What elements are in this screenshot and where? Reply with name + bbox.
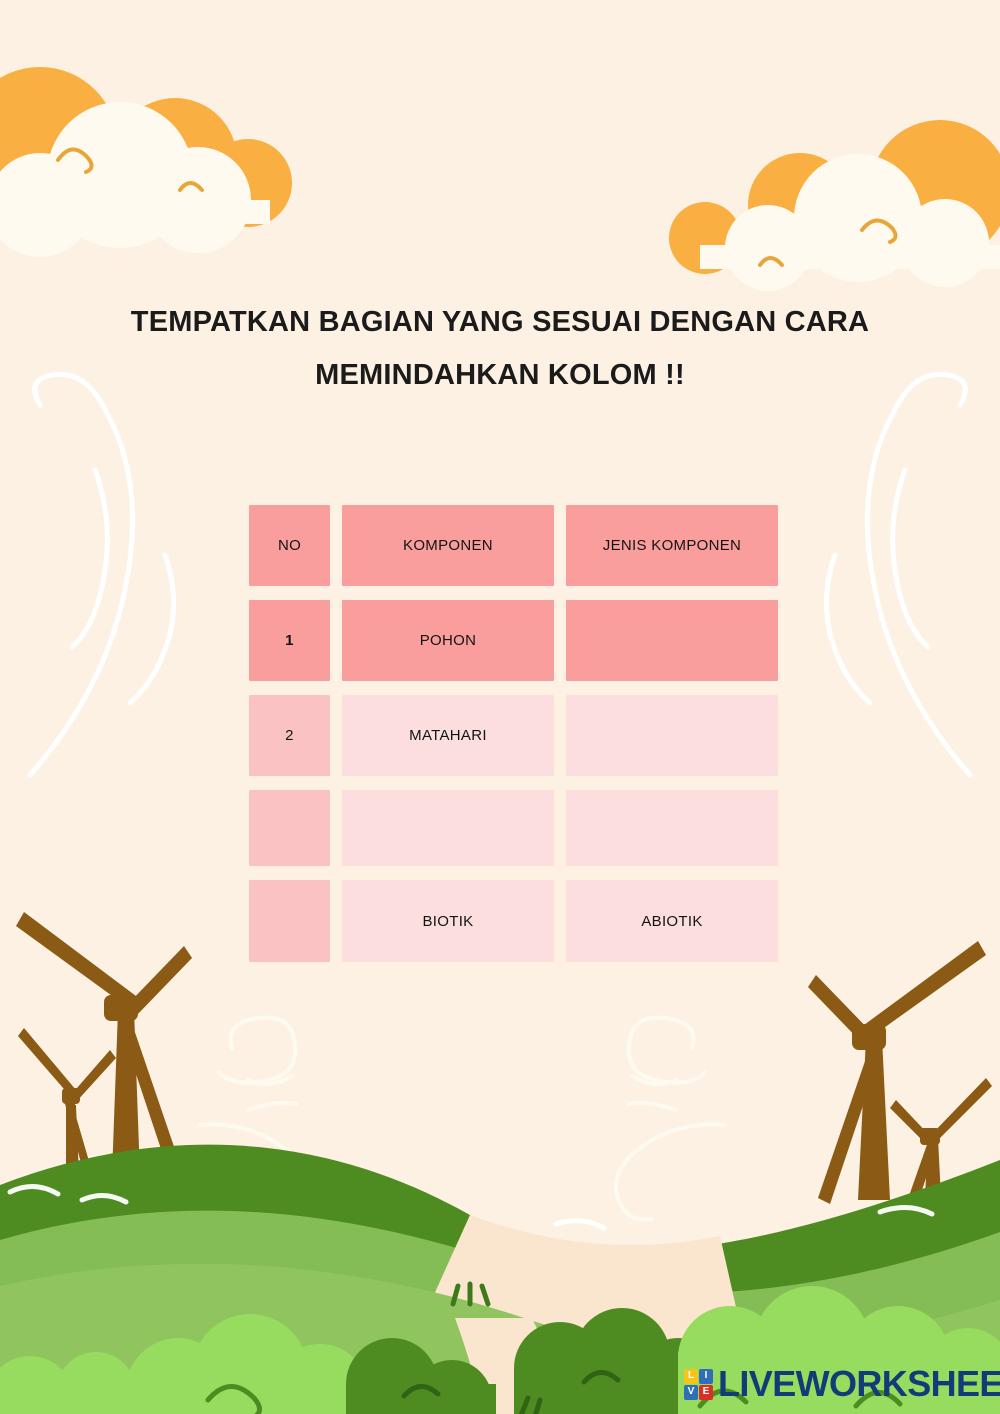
bush-far-left	[0, 1352, 136, 1414]
title-line-2: MEMINDAHKAN KOLOM !!	[0, 349, 1000, 402]
row-1-jenis[interactable]	[566, 600, 778, 681]
cloud-top-left	[0, 67, 292, 257]
logo-tile-l: L	[684, 1369, 698, 1384]
table-header-komponen: KOMPONEN	[342, 505, 554, 586]
cloud-top-right	[669, 120, 1000, 291]
logo-tile-i: I	[699, 1369, 713, 1384]
logo-tile-v: V	[684, 1385, 698, 1400]
row-3-jenis[interactable]	[566, 790, 778, 866]
wind-turbine-right-large	[808, 941, 986, 1204]
bush-center-dark	[346, 1338, 496, 1414]
table-row: 1 POHON	[249, 600, 778, 681]
row-1-komponen[interactable]: POHON	[342, 600, 554, 681]
page-title: TEMPATKAN BAGIAN YANG SESUAI DENGAN CARA…	[0, 296, 1000, 402]
grass-accents	[10, 1186, 932, 1228]
table-header-jenis: JENIS KOMPONEN	[566, 505, 778, 586]
wind-swirl-left	[30, 374, 174, 775]
liveworksheets-logo-text: LIVEWORKSHEETS	[718, 1366, 1000, 1402]
row-4-jenis[interactable]: ABIOTIK	[566, 880, 778, 962]
wind-swirl-center-left	[200, 1018, 308, 1220]
components-table: NO KOMPONEN JENIS KOMPONEN 1 POHON 2 MAT…	[249, 505, 778, 976]
table-row: 2 MATAHARI	[249, 695, 778, 776]
row-1-no: 1	[249, 600, 330, 681]
table-row	[249, 790, 778, 866]
logo-tile-e: E	[699, 1385, 713, 1400]
wind-turbine-left-small	[18, 1028, 116, 1200]
wind-swirl-center-right	[616, 1018, 724, 1220]
title-line-1: TEMPATKAN BAGIAN YANG SESUAI DENGAN CARA	[0, 296, 1000, 349]
row-2-komponen[interactable]: MATAHARI	[342, 695, 554, 776]
table-header-no: NO	[249, 505, 330, 586]
wind-turbine-right-small	[890, 1078, 992, 1220]
row-4-no	[249, 880, 330, 962]
row-4-komponen[interactable]: BIOTIK	[342, 880, 554, 962]
wind-turbine-left-large	[16, 912, 192, 1176]
table-row: BIOTIK ABIOTIK	[249, 880, 778, 962]
row-2-jenis[interactable]	[566, 695, 778, 776]
wind-swirl-right	[826, 374, 970, 775]
liveworksheets-logo[interactable]: L I V E LIVEWORKSHEETS	[684, 1366, 1000, 1402]
liveworksheets-logo-mark: L I V E	[684, 1369, 713, 1400]
table-header-row: NO KOMPONEN JENIS KOMPONEN	[249, 505, 778, 586]
bush-left-light	[126, 1314, 370, 1414]
worksheet-page: TEMPATKAN BAGIAN YANG SESUAI DENGAN CARA…	[0, 0, 1000, 1414]
row-3-no	[249, 790, 330, 866]
row-3-komponen[interactable]	[342, 790, 554, 866]
row-2-no: 2	[249, 695, 330, 776]
grass-tufts	[453, 1284, 488, 1304]
